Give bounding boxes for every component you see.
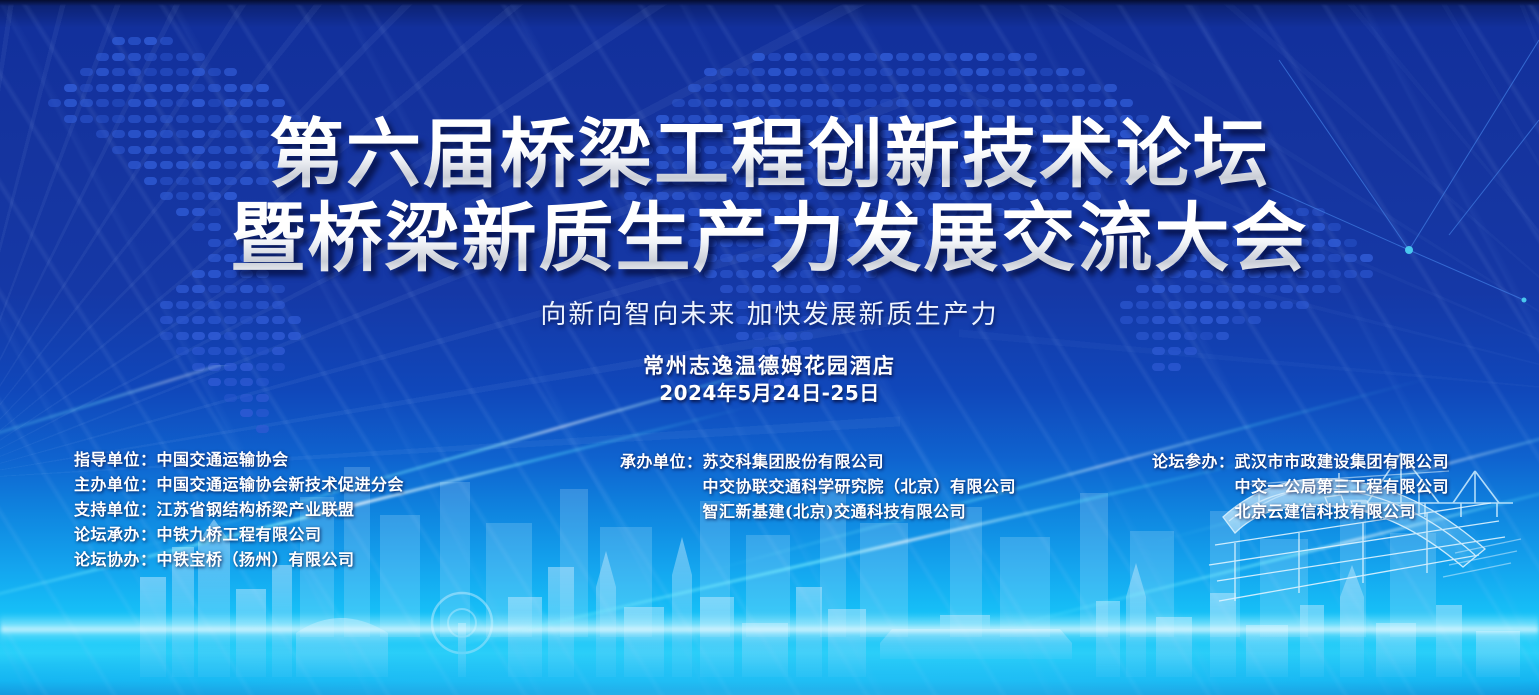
- organizer-row: 支持单位：江苏省钢结构桥梁产业联盟: [74, 497, 404, 522]
- organizer-label: 承办单位：: [620, 449, 703, 474]
- organizer-value: 北京云建信科技有限公司: [1235, 502, 1417, 521]
- venue-block: 常州志逸温德姆花园酒店 2024年5月24日-25日: [0, 352, 1539, 407]
- organizer-label: 论坛参办：: [1152, 449, 1235, 474]
- organizer-value: 中铁九桥工程有限公司: [157, 525, 322, 544]
- venue-name: 常州志逸温德姆花园酒店: [0, 352, 1539, 380]
- organizer-label: [1152, 499, 1235, 524]
- organizer-column-right: 论坛参办：武汉市市政建设集团有限公司 中交一公局第三工程有限公司 北京云建信科技…: [1152, 449, 1449, 524]
- organizer-row: 承办单位：苏交科集团股份有限公司: [620, 449, 1016, 474]
- organizer-row: 论坛参办：武汉市市政建设集团有限公司: [1152, 449, 1449, 474]
- organizer-label: [620, 499, 703, 524]
- organizer-row: 北京云建信科技有限公司: [1152, 499, 1449, 524]
- organizer-row: 智汇新基建(北京)交通科技有限公司: [620, 499, 1016, 524]
- organizer-value: 中铁宝桥（扬州）有限公司: [157, 550, 355, 569]
- organizer-row: 中交一公局第三工程有限公司: [1152, 474, 1449, 499]
- organizer-label: 主办单位：: [74, 472, 157, 497]
- organizer-row: 指导单位：中国交通运输协会: [74, 447, 404, 472]
- subtitle: 向新向智向未来 加快发展新质生产力: [0, 294, 1539, 331]
- organizer-column-left: 指导单位：中国交通运输协会主办单位：中国交通运输协会新技术促进分会支持单位：江苏…: [74, 447, 404, 572]
- organizer-label: 指导单位：: [74, 447, 157, 472]
- event-date: 2024年5月24日-25日: [0, 380, 1539, 407]
- organizer-value: 智汇新基建(北京)交通科技有限公司: [703, 502, 967, 521]
- banner-content: 第六届桥梁工程创新技术论坛 暨桥梁新质生产力发展交流大会 向新向智向未来 加快发…: [0, 0, 1539, 695]
- organizer-value: 江苏省钢结构桥梁产业联盟: [157, 500, 355, 519]
- conference-banner: 第六届桥梁工程创新技术论坛 暨桥梁新质生产力发展交流大会 向新向智向未来 加快发…: [0, 0, 1539, 695]
- organizer-row: 论坛协办：中铁宝桥（扬州）有限公司: [74, 547, 404, 572]
- organizer-row: 主办单位：中国交通运输协会新技术促进分会: [74, 472, 404, 497]
- organizer-row: 论坛承办：中铁九桥工程有限公司: [74, 522, 404, 547]
- organizer-label: 论坛承办：: [74, 522, 157, 547]
- organizer-value: 中交协联交通科学研究院（北京）有限公司: [703, 477, 1017, 496]
- title-block: 第六届桥梁工程创新技术论坛 暨桥梁新质生产力发展交流大会: [0, 112, 1539, 280]
- organizer-column-center: 承办单位：苏交科集团股份有限公司 中交协联交通科学研究院（北京）有限公司 智汇新…: [620, 449, 1016, 524]
- organizer-value: 武汉市市政建设集团有限公司: [1235, 452, 1450, 471]
- organizer-row: 中交协联交通科学研究院（北京）有限公司: [620, 474, 1016, 499]
- organizer-value: 中国交通运输协会: [157, 450, 289, 469]
- organizer-label: [1152, 474, 1235, 499]
- organizer-value: 中交一公局第三工程有限公司: [1235, 477, 1450, 496]
- top-dark-band: [0, 0, 1539, 6]
- organizer-label: 支持单位：: [74, 497, 157, 522]
- title-line-2: 暨桥梁新质生产力发展交流大会: [0, 196, 1539, 280]
- title-line-1: 第六届桥梁工程创新技术论坛: [0, 112, 1539, 196]
- organizer-label: [620, 474, 703, 499]
- organizer-label: 论坛协办：: [74, 547, 157, 572]
- organizer-value: 苏交科集团股份有限公司: [703, 452, 885, 471]
- organizer-value: 中国交通运输协会新技术促进分会: [157, 475, 405, 494]
